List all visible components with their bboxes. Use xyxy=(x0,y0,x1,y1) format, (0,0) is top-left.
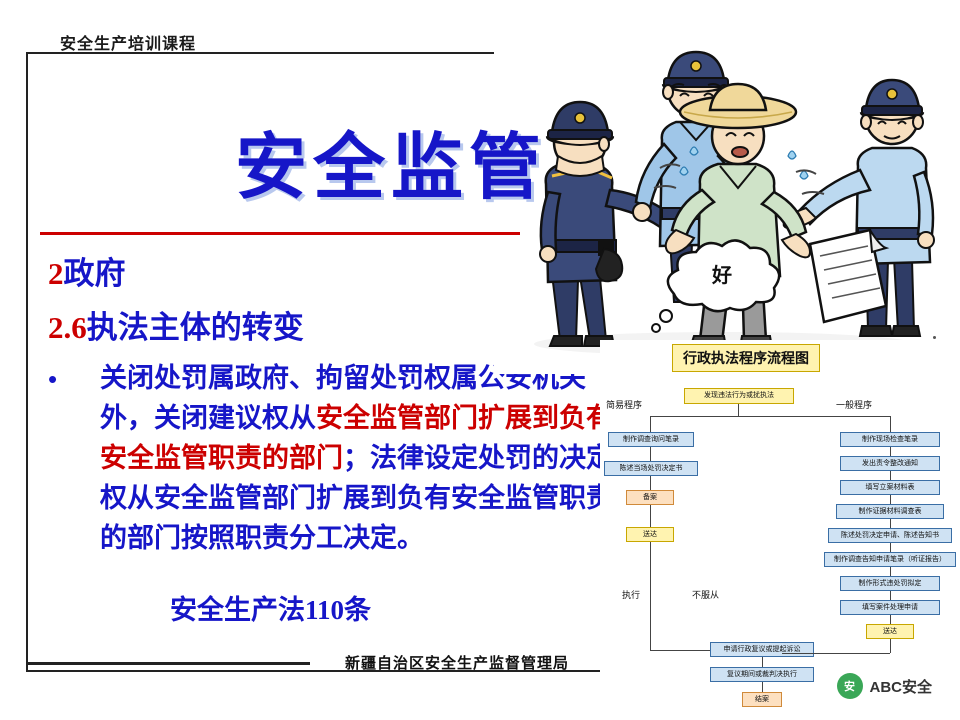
course-title: 安全生产培训课程 xyxy=(60,30,196,54)
flow-node-right-6: 制作调查告知申请笔录（听证报告） xyxy=(824,552,956,567)
section-title: 政府 xyxy=(64,256,126,291)
flow-label-execute: 执行 xyxy=(622,588,640,601)
flow-node-left-1: 制作调查询问笔录 xyxy=(608,432,694,447)
slide-root: 安全生产培训课程 安全监管 2政府 2.6执法主体的转变 • 关闭处罚属政府、拘… xyxy=(0,0,960,720)
flow-node-left-8: 结案 xyxy=(742,692,782,707)
flow-connector xyxy=(762,682,763,692)
body-paragraph: 关闭处罚属政府、拘留处罚权属公安机关外，关闭建议权从安全监管部门扩展到负有安全监… xyxy=(100,358,620,558)
flow-node-right-9: 送达 xyxy=(866,624,914,639)
flow-node-left-7: 复议期间或裁判决执行 xyxy=(710,667,814,682)
flow-connector xyxy=(890,416,891,432)
flow-node-right-5: 陈述处罚决定申请、陈述告知书 xyxy=(828,528,952,543)
stray-dot xyxy=(933,336,936,339)
flow-node-right-4: 制作证据材料调查表 xyxy=(836,504,944,519)
badge-label: ABC安全 xyxy=(870,676,933,697)
flow-node-right-3: 填写立案材料表 xyxy=(840,480,940,495)
flow-connector xyxy=(762,657,763,667)
flow-connector xyxy=(890,471,891,480)
footer-organization: 新疆自治区安全生产监督管理局 xyxy=(345,652,569,673)
flow-connector xyxy=(650,476,651,490)
flow-node-right-7: 制作形式违处罚拟定 xyxy=(840,576,940,591)
flow-connector xyxy=(650,416,651,432)
flow-connector xyxy=(890,615,891,624)
flow-connector xyxy=(650,447,651,461)
flow-node-start: 发现违法行为或扰执法 xyxy=(684,388,794,404)
flow-connector xyxy=(650,650,710,651)
flow-connector xyxy=(890,567,891,576)
flow-connector xyxy=(650,542,651,586)
flowchart-lane-right-label: 一般程序 xyxy=(836,398,872,411)
flow-connector xyxy=(650,505,651,527)
flow-connector xyxy=(738,404,739,416)
cartoon-illustration: 好 xyxy=(494,44,960,362)
flow-connector xyxy=(890,519,891,528)
flow-connector xyxy=(890,447,891,456)
flow-connector xyxy=(890,591,891,600)
subsection-heading: 2.6执法主体的转变 xyxy=(48,302,304,347)
flow-connector xyxy=(890,639,891,653)
section-number: 2 xyxy=(48,256,64,291)
subsection-title: 执法主体的转变 xyxy=(87,310,304,345)
bullet-marker: • xyxy=(48,366,57,392)
flow-node-left-2: 陈述当场处罚决定书 xyxy=(604,461,698,476)
flow-connector xyxy=(650,586,651,650)
subsection-number: 2.6 xyxy=(48,310,87,345)
flow-connector xyxy=(650,416,890,417)
flow-node-left-4: 送达 xyxy=(626,527,674,542)
svg-text:好: 好 xyxy=(711,263,732,287)
flow-node-left-3: 备案 xyxy=(626,490,674,505)
badge-logo-icon: 安 xyxy=(837,673,863,699)
flowchart-title: 行政执法程序流程图 xyxy=(672,344,820,372)
flow-node-right-8: 填写案件处理申请 xyxy=(840,600,940,615)
footer-divider xyxy=(26,662,310,665)
flow-connector xyxy=(782,653,890,654)
flow-connector xyxy=(890,495,891,504)
page-title: 安全监管 xyxy=(235,108,547,213)
flow-node-right-1: 制作现场检查笔录 xyxy=(840,432,940,447)
flow-label-refuse: 不服从 xyxy=(692,588,719,601)
flowchart-lane-left-label: 简易程序 xyxy=(606,398,642,411)
flow-node-left-6: 申请行政复议或提起诉讼 xyxy=(710,642,814,657)
cartoon-document xyxy=(810,230,886,322)
watermark-badge: 安 ABC安全 xyxy=(829,668,945,704)
flowchart-diagram: 行政执法程序流程图 简易程序 一般程序 发现违法行为或扰执法 制作调查询问笔录 … xyxy=(600,340,960,720)
law-reference: 安全生产法110条 xyxy=(170,588,371,627)
title-divider xyxy=(40,232,520,235)
section-heading: 2政府 xyxy=(48,248,126,293)
flow-connector xyxy=(890,543,891,552)
flow-node-right-2: 发出责令整改通知 xyxy=(840,456,940,471)
